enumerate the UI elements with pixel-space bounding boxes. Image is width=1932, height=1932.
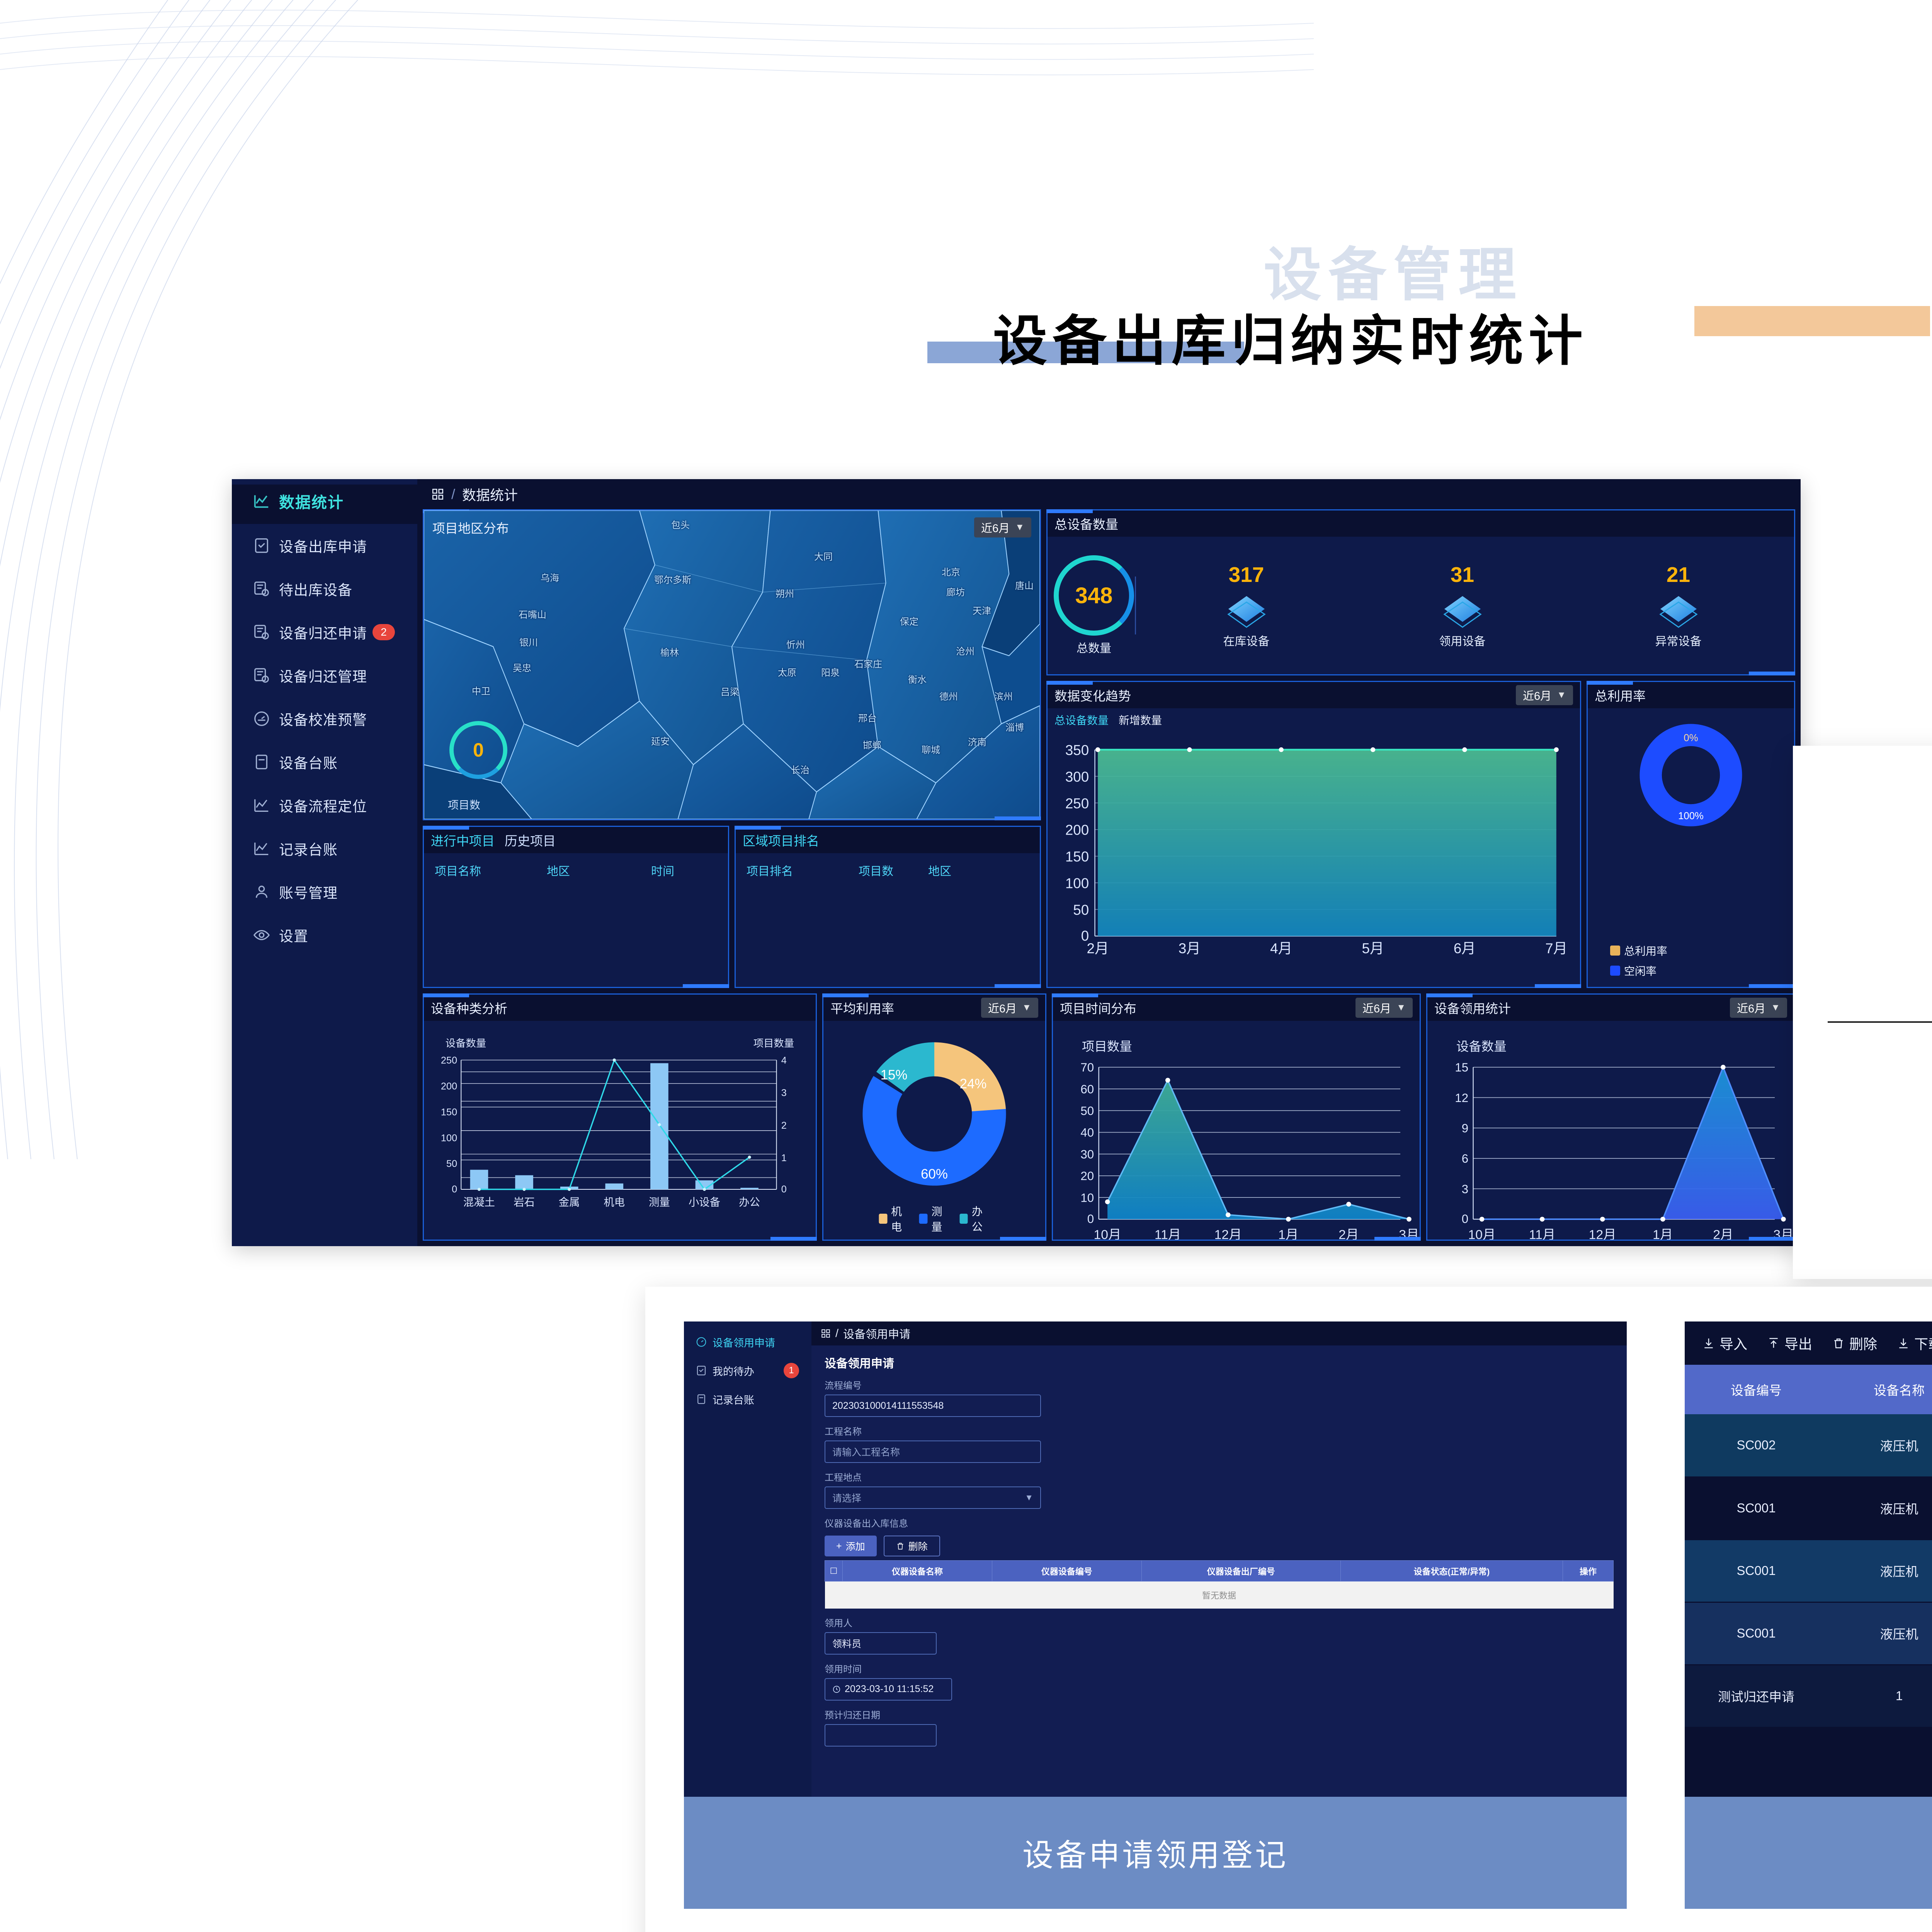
cell: 液压机 (1828, 1539, 1932, 1602)
feature-line: 使用类型统计分类 (1828, 895, 1932, 928)
table-row[interactable]: SC001 液压机 qr123456 200 2022-08-16 00:00:… (1685, 1539, 1932, 1602)
chevron-down-icon: ▼ (1022, 1002, 1031, 1013)
avgutil-legend: 机电 测量 办公 (879, 1203, 990, 1234)
process-no-input[interactable]: 202303100014111553548 (825, 1395, 1041, 1417)
map-label: 保定 (900, 614, 918, 628)
sidebar-item-outbound-request[interactable]: 设备出库申请 (232, 524, 417, 567)
map-label: 石嘴山 (519, 607, 546, 621)
svg-text:2月: 2月 (1087, 940, 1109, 956)
y-axis-label: 项目数量 (1082, 1039, 1132, 1053)
sidebar-item-label: 设备归还申请 (279, 622, 367, 643)
svg-text:6月: 6月 (1454, 940, 1476, 956)
doc-search-icon (253, 667, 270, 684)
breadcrumb-separator: / (835, 1327, 838, 1340)
sidebar-item-device-ledger[interactable]: 设备台账 (232, 740, 417, 784)
cube-icon (1656, 589, 1701, 629)
svg-text:100: 100 (441, 1133, 457, 1143)
stat-abnormal: 21 异常设备 (1570, 562, 1786, 649)
svg-text:1: 1 (781, 1153, 787, 1163)
donut-label-100: 100% (1678, 811, 1704, 821)
receiver-input[interactable]: 领料员 (825, 1632, 937, 1655)
sidebar-item-pending-outbound[interactable]: 待出库设备 (232, 567, 417, 611)
svg-text:岩石: 岩石 (514, 1196, 535, 1208)
dashboard-screenshot: 数据统计 设备出库申请 待出库设备 设备归还申请 2 设备归还管理 设备校准预警… (232, 479, 1801, 1246)
project-tables-row: 进行中项目 历史项目 项目名称 地区 时间 (423, 826, 1041, 988)
project-count-gauge: 0 (449, 721, 507, 779)
map-label: 乌海 (541, 570, 559, 584)
map-label: 中卫 (472, 684, 490, 697)
map-label: 济南 (968, 735, 986, 748)
map-period-select[interactable]: 近6月▼ (974, 517, 1031, 537)
map-label: 德州 (939, 689, 958, 702)
sidebar-item-label: 账号管理 (279, 881, 338, 902)
svg-text:2: 2 (781, 1120, 787, 1131)
map-label: 朔州 (776, 586, 794, 600)
svg-text:200: 200 (441, 1081, 457, 1092)
clock-icon (832, 1685, 841, 1694)
import-button[interactable]: 导入 (1702, 1333, 1747, 1353)
map-label: 邢台 (858, 711, 877, 724)
take-period-select[interactable]: 近6月▼ (1730, 998, 1787, 1018)
field-label-project-name: 工程名称 (825, 1424, 1614, 1437)
svg-text:10月: 10月 (1468, 1227, 1495, 1240)
avgutil-title: 平均利用率 (830, 998, 894, 1017)
project-time-card: 项目时间分布 近6月▼ 项目数量 (1052, 993, 1421, 1241)
legend-item[interactable]: 机电 (879, 1203, 909, 1234)
map-label: 廊坊 (946, 585, 965, 598)
kind-title: 设备种类分析 (431, 998, 507, 1017)
select-all-checkbox[interactable]: ☐ (825, 1561, 843, 1582)
take-time-value: 2023-03-10 11:15:52 (845, 1684, 934, 1695)
avgutil-period-select[interactable]: 近6月▼ (981, 998, 1038, 1018)
cube-icon (1440, 589, 1485, 629)
doc-search-icon (253, 580, 270, 598)
svg-text:2月: 2月 (1713, 1227, 1733, 1240)
svg-text:12月: 12月 (1589, 1227, 1616, 1240)
map-label: 长治 (791, 762, 810, 776)
total-devices-header: 总设备数量 (1048, 510, 1794, 537)
device-kind-chart: 设备数量 项目数量 (424, 1021, 816, 1221)
trend-chart: 350300250 200150100 500 2月3月4月 5月6月7月 (1048, 708, 1580, 957)
util-header: 总利用率 (1588, 682, 1794, 708)
trend-period-value: 近6月 (1523, 687, 1551, 703)
util-title: 总利用率 (1595, 686, 1646, 704)
svg-text:2月: 2月 (1338, 1227, 1359, 1240)
svg-text:11月: 11月 (1529, 1227, 1556, 1240)
column-header: 设备名称 (1828, 1365, 1932, 1414)
legend-item[interactable]: 办公 (959, 1203, 990, 1234)
trend-title: 数据变化趋势 (1054, 686, 1131, 704)
right-caption: 设备出入库状态查询 (1685, 1797, 1932, 1909)
svg-text:0: 0 (452, 1184, 457, 1195)
total-count-block: 348 总数量 (1055, 555, 1133, 656)
sidebar-item-label: 设置 (279, 925, 308, 946)
field-label-receiver: 领用人 (825, 1616, 1614, 1629)
svg-text:50: 50 (1080, 1104, 1094, 1117)
column-header: 项目数 (859, 862, 928, 879)
section-label-device-io: 仪器设备出入库信息 (825, 1516, 1614, 1529)
svg-text:9: 9 (1462, 1121, 1468, 1135)
region-rank-title: 区域项目排名 (743, 831, 819, 849)
svg-text:350: 350 (1065, 742, 1089, 758)
sidebar-item-label: 设备归还管理 (279, 665, 367, 686)
legend-item[interactable]: 测量 (919, 1203, 949, 1234)
dashboard-sidebar: 数据统计 设备出库申请 待出库设备 设备归还申请 2 设备归还管理 设备校准预警… (232, 479, 417, 1246)
total-devices-card: 总设备数量 348 总数量 317 (1046, 509, 1795, 675)
svg-text:3月: 3月 (1399, 1227, 1419, 1240)
map-label: 唐山 (1015, 578, 1034, 592)
table-header: 项目名称 地区 时间 (424, 853, 728, 879)
svg-text:50: 50 (1073, 902, 1089, 918)
svg-text:3: 3 (781, 1088, 787, 1099)
form-sidebar-label: 记录台账 (713, 1392, 754, 1407)
empty-text: 暂无数据 (825, 1582, 1614, 1609)
breadcrumb-current: 设备领用申请 (843, 1325, 910, 1342)
cell: SC001 (1685, 1477, 1828, 1539)
svg-text:11月: 11月 (1155, 1227, 1181, 1240)
export-button[interactable]: 导出 (1767, 1333, 1812, 1353)
form-main: / 设备领用申请 设备领用申请 流程编号 2023031000141115535… (811, 1321, 1627, 1797)
table-empty-row: 暂无数据 (825, 1582, 1614, 1609)
cell: 液压机 (1828, 1602, 1932, 1665)
y2-axis-label: 项目数量 (753, 1037, 794, 1049)
svg-text:150: 150 (441, 1107, 457, 1117)
take-header: 设备领用统计 近6月▼ (1427, 995, 1794, 1021)
stat-label: 异常设备 (1655, 632, 1702, 649)
map-label: 吕梁 (721, 684, 739, 698)
svg-text:金属: 金属 (559, 1196, 580, 1208)
sidebar-brand-label: 数据统计 (279, 490, 344, 512)
breadcrumb: / 数据统计 (417, 479, 1801, 509)
svg-text:100: 100 (1065, 875, 1089, 891)
form-sidebar-label: 设备领用申请 (713, 1335, 775, 1350)
pie-label-jidian: 24% (960, 1076, 987, 1091)
return-date-input[interactable] (825, 1724, 937, 1747)
feature-footer: 数字化设备管理, 便捷、时效 (1828, 1065, 1932, 1098)
total-utilization-card: 总利用率 0% 100% 总利用率 空闲率 (1587, 681, 1795, 988)
map-label: 鄂尔多斯 (654, 572, 691, 586)
field-label-process-no: 流程编号 (825, 1378, 1614, 1391)
chevron-down-icon: ▼ (1557, 690, 1566, 701)
svg-text:1月: 1月 (1278, 1227, 1298, 1240)
time-title: 项目时间分布 (1060, 998, 1136, 1017)
chart-line-icon (253, 840, 270, 857)
page-header: 设备管理 设备出库归纳实时统计 (0, 112, 1932, 274)
table-header-row: ☐ 仪器设备名称 仪器设备编号 仪器设备出厂编号 设备状态(正常/异常) 操作 (825, 1561, 1614, 1582)
feature-description-panel: 设备申请、出库、入库统计 实时查看设备位置(GPS定位) 使用类型统计分类 各项… (1793, 746, 1932, 1279)
column-header: 项目名称 (435, 862, 547, 879)
tab-ongoing-projects[interactable]: 进行中项目 (431, 831, 495, 849)
sidebar-item-label: 记录台账 (279, 838, 338, 859)
svg-text:50: 50 (446, 1158, 457, 1169)
stat-in-stock: 317 在库设备 (1138, 562, 1354, 649)
bottom-card: 设备领用申请 我的待办 1 记录台账 / 设备领用申请 (645, 1287, 1932, 1932)
column-header: 时间 (651, 862, 674, 879)
take-time-input[interactable]: 2023-03-10 11:15:52 (825, 1678, 952, 1701)
sidebar-item-record-ledger[interactable]: 记录台账 (232, 827, 417, 870)
delete-button[interactable]: 删除 (1832, 1333, 1877, 1353)
map-card-title: 项目地区分布 (432, 518, 509, 537)
stat-value: 317 (1229, 562, 1264, 587)
svg-text:15: 15 (1455, 1061, 1468, 1074)
divider (1828, 1021, 1932, 1023)
sidebar-item-process-location[interactable]: 设备流程定位 (232, 784, 417, 827)
project-name-input[interactable]: 请输入工程名称 (825, 1440, 1041, 1463)
table-screenshot: 导入 导出 删除 下载模板 请输入 设备编号 (1685, 1321, 1932, 1797)
import-icon (1702, 1337, 1715, 1349)
stat-value: 31 (1451, 562, 1474, 587)
total-count-ring: 348 (1054, 555, 1134, 636)
svg-text:混凝土: 混凝土 (463, 1196, 495, 1208)
sidebar-item-return-request[interactable]: 设备归还申请 2 (232, 611, 417, 654)
util-legend: 总利用率 空闲率 (1610, 943, 1667, 978)
sidebar-brand: 数据统计 (232, 485, 417, 524)
svg-text:0: 0 (781, 1184, 787, 1195)
map-label: 北京 (942, 565, 960, 578)
map-label: 延安 (651, 734, 670, 747)
left-caption: 设备申请领用登记 (684, 1797, 1627, 1909)
map-label: 银川 (519, 635, 538, 648)
grid-apps-icon[interactable] (821, 1328, 831, 1338)
chart-line-icon (253, 796, 270, 814)
svg-text:12月: 12月 (1214, 1227, 1242, 1240)
svg-text:3月: 3月 (1773, 1227, 1793, 1240)
map-label: 榆林 (660, 645, 679, 658)
download-template-button[interactable]: 下载模板 (1897, 1333, 1932, 1353)
tab-history-projects[interactable]: 历史项目 (505, 831, 556, 849)
gauge-value: 0 (473, 739, 484, 761)
device-status-table: 设备编号 设备名称 设备条形码 设备量程 本次核定/校准日期 是否在库 SC00… (1685, 1365, 1932, 1728)
svg-text:5月: 5月 (1362, 940, 1384, 956)
field-label-take-time: 领用时间 (825, 1662, 1614, 1675)
map-label: 聊城 (922, 742, 940, 756)
avg-utilization-card: 平均利用率 近6月▼ 24% 60% 15% (822, 993, 1046, 1241)
map-label: 阳泉 (821, 665, 840, 679)
map-label: 太原 (778, 665, 796, 679)
svg-text:4: 4 (781, 1055, 787, 1066)
svg-text:测量: 测量 (649, 1196, 670, 1208)
avgutil-header: 平均利用率 近6月▼ (823, 995, 1045, 1021)
clipboard-check-icon (696, 1365, 707, 1376)
svg-text:7月: 7月 (1545, 940, 1567, 956)
take-period-value: 近6月 (1737, 1000, 1765, 1016)
add-button[interactable]: +添加 (825, 1536, 877, 1556)
stat-label: 领用设备 (1439, 632, 1486, 649)
file-icon (253, 753, 270, 771)
export-icon (1767, 1337, 1780, 1349)
bottom-charts-row: 设备种类分析 设备数量 项目数量 (423, 993, 1795, 1241)
map-label: 大同 (814, 549, 833, 563)
dashboard-main: / 数据统计 (417, 479, 1801, 1246)
table-row[interactable]: SC001 液压机 qr123466 200 2022-08-16 00:00:… (1685, 1477, 1932, 1539)
form-sidebar-item-request[interactable]: 设备领用申请 (684, 1328, 811, 1356)
column-header: 设备状态(正常/异常) (1340, 1561, 1563, 1582)
file-icon (696, 1393, 707, 1405)
plus-icon: + (836, 1541, 842, 1552)
pie-label-bangong: 15% (881, 1068, 908, 1083)
sidebar-item-calibration-alert[interactable]: 设备校准预警 (232, 697, 417, 740)
svg-text:0: 0 (1087, 1212, 1094, 1226)
cell: SC001 (1685, 1602, 1828, 1665)
user-icon (253, 883, 270, 901)
form-heading: 设备领用申请 (825, 1354, 1614, 1371)
map-label: 沧州 (956, 644, 975, 657)
table-header-row: 设备编号 设备名称 设备条形码 设备量程 本次核定/校准日期 是否在库 (1685, 1365, 1932, 1414)
feature-heading: 设备申请、出库、入库统计 (1828, 784, 1932, 826)
breadcrumb-current: 数据统计 (462, 484, 518, 504)
map-label: 衡水 (908, 672, 927, 685)
pie-label-celiang: 60% (921, 1167, 948, 1182)
cell: 1 (1828, 1665, 1932, 1727)
map-label: 吴忠 (513, 660, 531, 674)
form-sidebar-item-todo[interactable]: 我的待办 1 (684, 1356, 811, 1385)
table-row[interactable]: 测试归还申请 1 6928980609041 1 2022-11-05 16:0… (1685, 1665, 1932, 1727)
trash-icon (1832, 1337, 1845, 1349)
avg-utilization-donut: 24% 60% 15% (823, 1021, 1045, 1223)
feature-line: 各项目使用设备数量统计 (1828, 946, 1932, 979)
column-header: 设备编号 (1685, 1365, 1828, 1414)
total-devices-title: 总设备数量 (1054, 514, 1118, 533)
cell: 测试归还申请 (1685, 1665, 1828, 1727)
form-breadcrumb: / 设备领用申请 (811, 1321, 1627, 1345)
legend-item[interactable]: 总利用率 (1610, 943, 1667, 958)
cube-icon (1224, 589, 1269, 629)
table-row[interactable]: SC001 液压机 qr123455 200 2022-08-16 00:00:… (1685, 1602, 1932, 1665)
table-header: 项目排名 项目数 地区 (736, 853, 1040, 879)
svg-text:70: 70 (1080, 1061, 1094, 1074)
total-count-label: 总数量 (1077, 639, 1111, 656)
breadcrumb-separator: / (451, 486, 455, 502)
time-header: 项目时间分布 近6月▼ (1053, 995, 1420, 1021)
svg-text:250: 250 (1065, 796, 1089, 811)
y-axis-label: 设备数量 (446, 1037, 486, 1049)
svg-text:3月: 3月 (1179, 940, 1201, 956)
stat-label: 在库设备 (1223, 632, 1270, 649)
map-period-value: 近6月 (981, 519, 1010, 536)
sidebar-item-label: 设备校准预警 (279, 708, 367, 729)
china-map[interactable]: 包头 大同 北京 唐山 乌海 鄂尔多斯 朔州 廊坊 石嘴山 天津 保定 银川 (424, 510, 1040, 819)
stat-issued: 31 领用设备 (1354, 562, 1570, 649)
svg-text:20: 20 (1080, 1169, 1094, 1183)
legend-item[interactable]: 空闲率 (1610, 963, 1656, 978)
total-count-value: 348 (1075, 583, 1113, 609)
delete-button[interactable]: 删除 (884, 1536, 940, 1556)
trend-card: 数据变化趋势 近6月▼ 总设备数量 新增数量 (1046, 681, 1581, 988)
svg-text:4月: 4月 (1270, 940, 1292, 956)
svg-text:250: 250 (441, 1055, 457, 1066)
column-header: 仪器设备名称 (843, 1561, 992, 1582)
svg-text:150: 150 (1065, 849, 1089, 865)
form-sidebar-label: 我的待办 (713, 1363, 754, 1378)
project-tabs: 进行中项目 历史项目 (424, 827, 728, 853)
trend-header: 数据变化趋势 近6月▼ (1048, 682, 1580, 708)
project-location-select[interactable]: 请选择 ▼ (825, 1486, 1041, 1509)
ongoing-projects-card: 进行中项目 历史项目 项目名称 地区 时间 (423, 826, 729, 988)
cell: 液压机 (1828, 1414, 1932, 1477)
svg-text:1月: 1月 (1653, 1227, 1673, 1240)
gauge-icon (253, 710, 270, 728)
feature-line: 实时查看设备位置(GPS定位) (1828, 844, 1932, 877)
field-label-project-location: 工程地点 (825, 1470, 1614, 1483)
svg-text:小设备: 小设备 (689, 1196, 720, 1208)
map-label: 淄博 (1005, 720, 1024, 733)
avgutil-period-value: 近6月 (988, 1000, 1017, 1016)
table-row[interactable]: SC002 液压机 qr123467 200 2022-08-16 00:00:… (1685, 1414, 1932, 1477)
time-period-value: 近6月 (1362, 1000, 1391, 1016)
column-header: 仪器设备编号 (992, 1561, 1141, 1582)
svg-text:机电: 机电 (604, 1196, 625, 1208)
svg-text:10: 10 (1080, 1191, 1094, 1204)
donut-label-0: 0% (1684, 733, 1698, 743)
chevron-down-icon: ▼ (1771, 1002, 1780, 1013)
cell: SC001 (1685, 1539, 1828, 1602)
region-rank-header: 区域项目排名 (736, 827, 1040, 853)
map-label: 邯郸 (863, 738, 881, 751)
divider (1135, 577, 1136, 634)
map-label: 天津 (973, 603, 991, 617)
chart-line-icon (253, 492, 270, 510)
chevron-down-icon: ▼ (1015, 522, 1024, 533)
clipboard-check-icon (253, 537, 270, 554)
svg-text:60: 60 (1080, 1082, 1094, 1096)
column-header: 项目排名 (747, 862, 859, 879)
cell: SC002 (1685, 1414, 1828, 1477)
total-utilization-donut: 0% 100% (1588, 708, 1794, 869)
form-screenshot: 设备领用申请 我的待办 1 记录台账 / 设备领用申请 (684, 1321, 1627, 1797)
svg-text:6: 6 (1462, 1152, 1468, 1165)
trash-icon (896, 1542, 905, 1550)
column-header: 地区 (547, 862, 651, 879)
sidebar-item-settings[interactable]: 设置 (232, 913, 417, 957)
svg-text:300: 300 (1065, 769, 1089, 785)
region-rank-card: 区域项目排名 项目排名 项目数 地区 (735, 826, 1041, 988)
svg-text:办公: 办公 (739, 1196, 760, 1208)
trend-row: 数据变化趋势 近6月▼ 总设备数量 新增数量 (1046, 681, 1795, 988)
column-header: 地区 (928, 862, 951, 879)
sidebar-item-label: 设备出库申请 (279, 535, 367, 556)
chevron-down-icon: ▼ (1396, 1002, 1406, 1013)
map-label: 石家庄 (854, 656, 882, 670)
y-axis-label: 设备数量 (1456, 1039, 1507, 1053)
sidebar-item-return-management[interactable]: 设备归还管理 (232, 654, 417, 697)
svg-text:3: 3 (1462, 1182, 1468, 1196)
sidebar-item-label: 设备流程定位 (279, 795, 367, 816)
field-label-return-date: 预计归还日期 (825, 1708, 1614, 1721)
sidebar-item-label: 设备台账 (279, 752, 338, 772)
column-header: 仪器设备出厂编号 (1141, 1561, 1340, 1582)
trend-period-select[interactable]: 近6月▼ (1516, 685, 1573, 705)
form-sidebar-item-ledger[interactable]: 记录台账 (684, 1385, 811, 1413)
device-take-card: 设备领用统计 近6月▼ 设备数量 (1426, 993, 1795, 1241)
map-label: 滨州 (994, 689, 1013, 702)
column-header: 操作 (1563, 1561, 1614, 1582)
project-time-chart: 项目数量 70605040 (1053, 1021, 1420, 1240)
svg-text:30: 30 (1080, 1148, 1094, 1161)
stat-value: 21 (1667, 562, 1690, 587)
status-badge: 2 (372, 624, 395, 640)
map-label: 忻州 (786, 637, 805, 651)
status-badge: 1 (784, 1363, 799, 1378)
svg-text:40: 40 (1080, 1126, 1094, 1139)
title-highlight-orange (1694, 306, 1930, 336)
select-value: 请选择 (832, 1491, 861, 1505)
device-kind-card: 设备种类分析 设备数量 项目数量 (423, 993, 817, 1241)
grid-apps-icon[interactable] (431, 488, 444, 501)
sidebar-item-account-management[interactable]: 账号管理 (232, 870, 417, 913)
time-period-select[interactable]: 近6月▼ (1355, 998, 1413, 1018)
chevron-down-icon: ▼ (1025, 1493, 1033, 1503)
sidebar-item-label: 待出库设备 (279, 578, 352, 599)
